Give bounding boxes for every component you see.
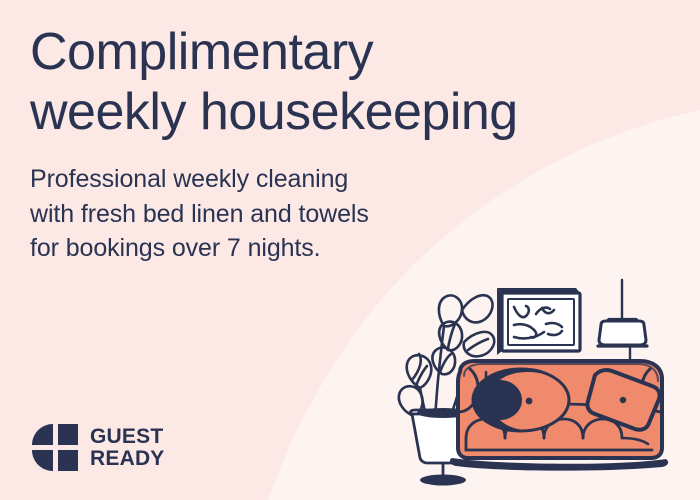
page-title: Complimentary weekly housekeeping: [30, 22, 650, 143]
framed-picture: [497, 288, 580, 355]
guest-ready-logo[interactable]: GUEST READY: [32, 424, 165, 472]
living-room-illustration: [390, 262, 700, 500]
page-subtitle: Professional weekly cleaning with fresh …: [30, 162, 460, 266]
pendant-lamp: [598, 280, 647, 362]
promo-card: Complimentary weekly housekeeping Profes…: [0, 0, 700, 500]
guest-ready-wordmark: GUEST READY: [90, 426, 165, 470]
guest-ready-mark: [32, 424, 78, 472]
round-cushion: [473, 369, 570, 431]
